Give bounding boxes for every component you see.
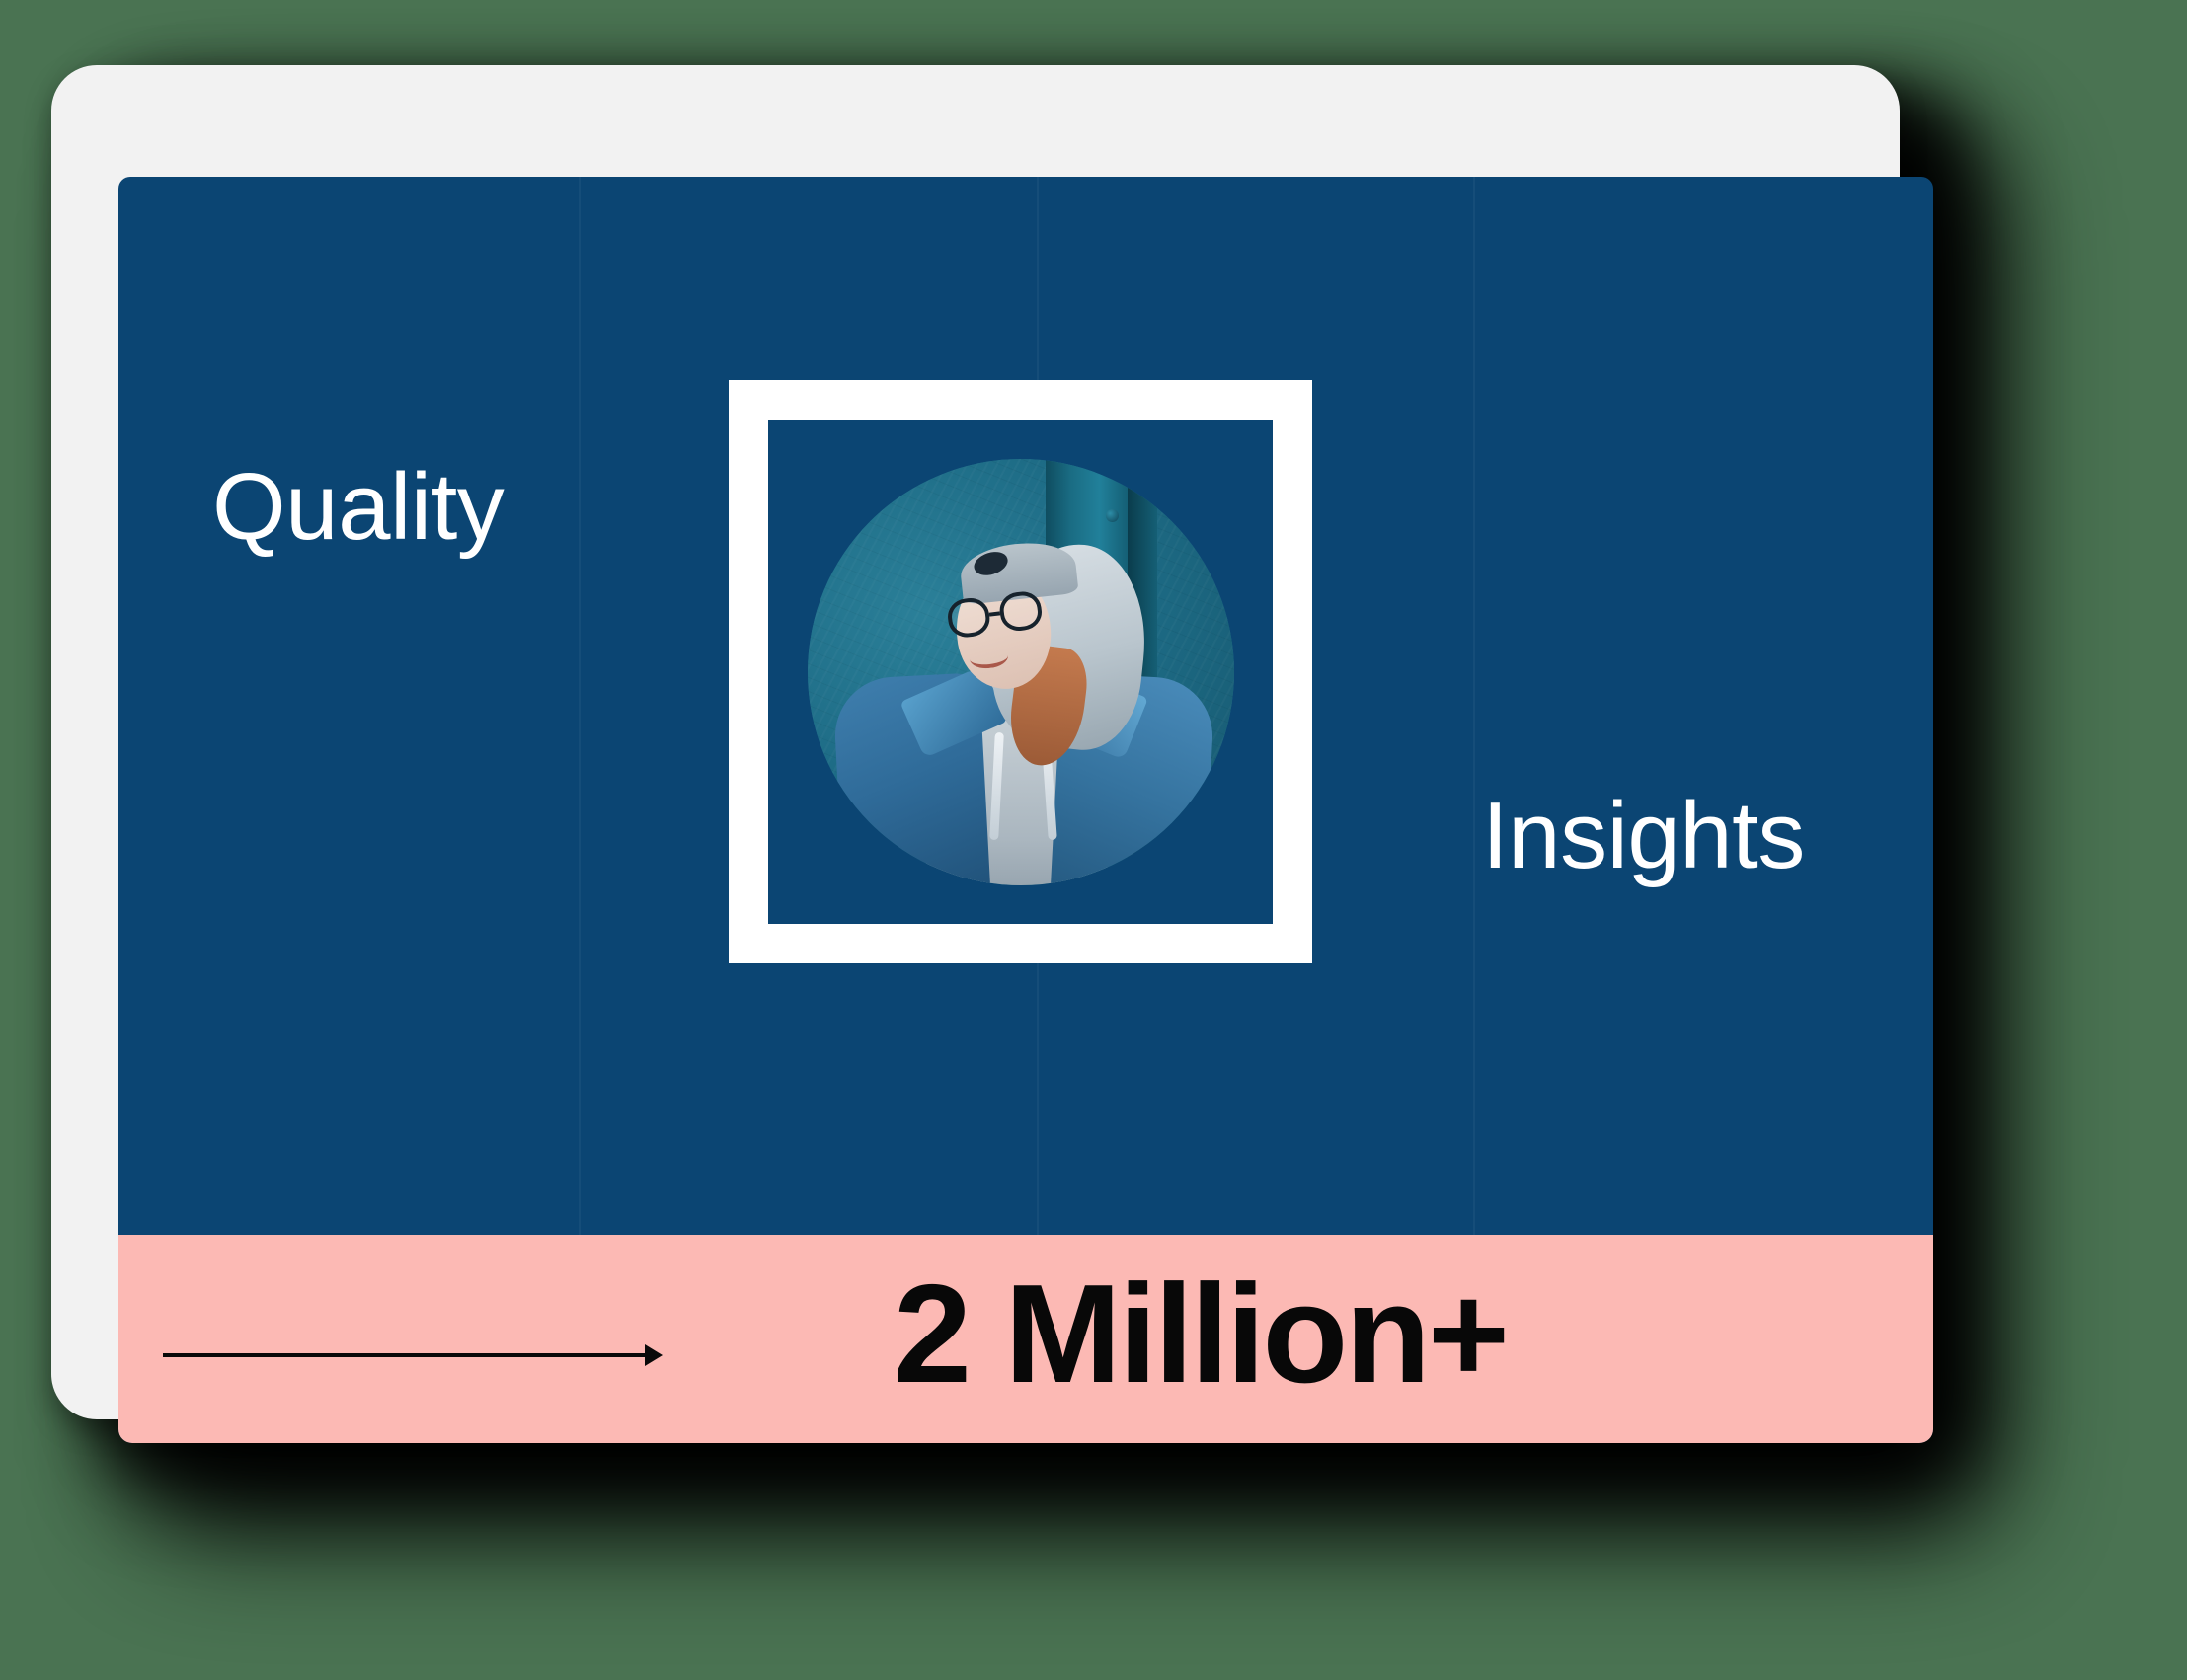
portrait-frame[interactable] <box>729 380 1312 963</box>
photo-lens-left <box>946 596 991 640</box>
timeline-arrow-head-icon <box>645 1344 663 1366</box>
portrait-mat <box>768 420 1273 924</box>
slide-card-frame: Quality Insights <box>51 65 1900 1419</box>
photo-glasses-bridge <box>989 611 1001 616</box>
headline-insights[interactable]: Insights <box>1482 789 1805 883</box>
photo-lens-right <box>998 589 1044 633</box>
headline-quality[interactable]: Quality <box>212 460 504 555</box>
stat-value: 2 Million+ <box>894 1264 1507 1405</box>
slide-canvas[interactable]: Quality Insights <box>118 177 1933 1443</box>
portrait-photo <box>808 459 1234 885</box>
portrait-illustration <box>808 459 1234 885</box>
timeline-arrow-line <box>163 1353 649 1357</box>
